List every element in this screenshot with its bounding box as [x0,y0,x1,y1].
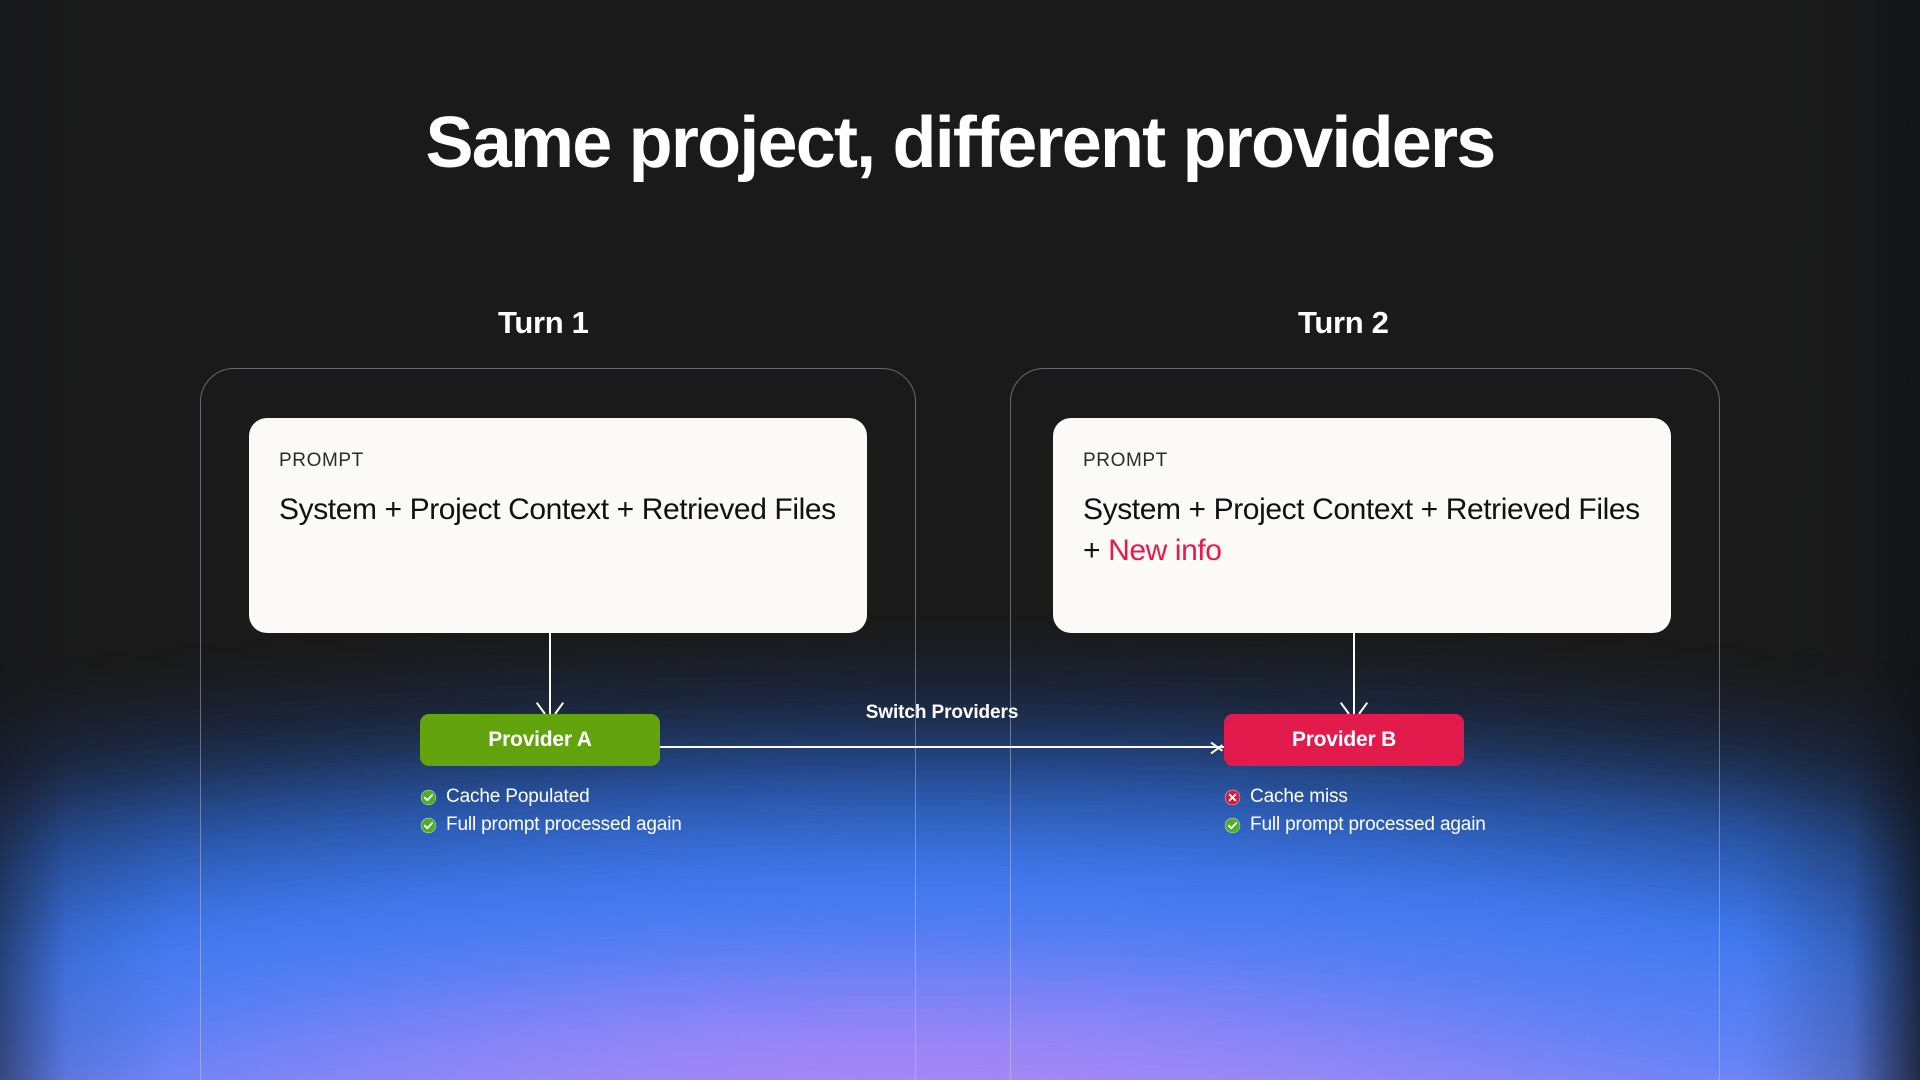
status-text: Full prompt processed again [446,814,682,836]
check-circle-icon [420,817,437,834]
turn-2-prompt-label: PROMPT [1083,450,1641,472]
status-row: Full prompt processed again [420,814,682,836]
arrow-stem [660,746,1224,748]
arrow-head [1210,740,1224,756]
turn-2-prompt-card: PROMPT System + Project Context + Retrie… [1053,418,1671,633]
provider-a-pill[interactable]: Provider A [420,714,660,766]
arrow-head [542,701,558,715]
diagram-canvas: Same project, different providers Turn 1… [0,0,1920,1080]
status-text: Cache miss [1250,786,1348,808]
turn-1-prompt-label: PROMPT [279,450,837,472]
turn-1-prompt-card: PROMPT System + Project Context + Retrie… [249,418,867,633]
turn-1-prompt-body: System + Project Context + Retrieved Fil… [279,490,837,531]
turn-2-status-list: Cache miss Full prompt processed again [1224,786,1486,836]
status-row: Cache Populated [420,786,682,808]
turn-1-prompt-text: System + Project Context + Retrieved Fil… [279,493,836,526]
turn-2-prompt-highlight: New info [1108,534,1222,567]
check-circle-icon [420,789,437,806]
turn-2-down-arrow-icon [1344,633,1364,715]
arrow-head [1346,701,1362,715]
status-row: Full prompt processed again [1224,814,1486,836]
cross-circle-icon [1224,789,1241,806]
status-row: Cache miss [1224,786,1486,808]
turn-1-heading: Turn 1 [498,305,589,341]
turn-1-status-list: Cache Populated Full prompt processed ag… [420,786,682,836]
page-title: Same project, different providers [0,106,1920,182]
switch-providers-label: Switch Providers [660,702,1224,724]
turn-2-prompt-body: System + Project Context + Retrieved Fil… [1083,490,1641,572]
check-circle-icon [1224,817,1241,834]
turn-2-heading: Turn 2 [1298,305,1389,341]
status-text: Full prompt processed again [1250,814,1486,836]
status-text: Cache Populated [446,786,590,808]
switch-providers-arrow-icon [660,739,1224,755]
provider-b-pill[interactable]: Provider B [1224,714,1464,766]
turn-1-down-arrow-icon [540,633,560,715]
